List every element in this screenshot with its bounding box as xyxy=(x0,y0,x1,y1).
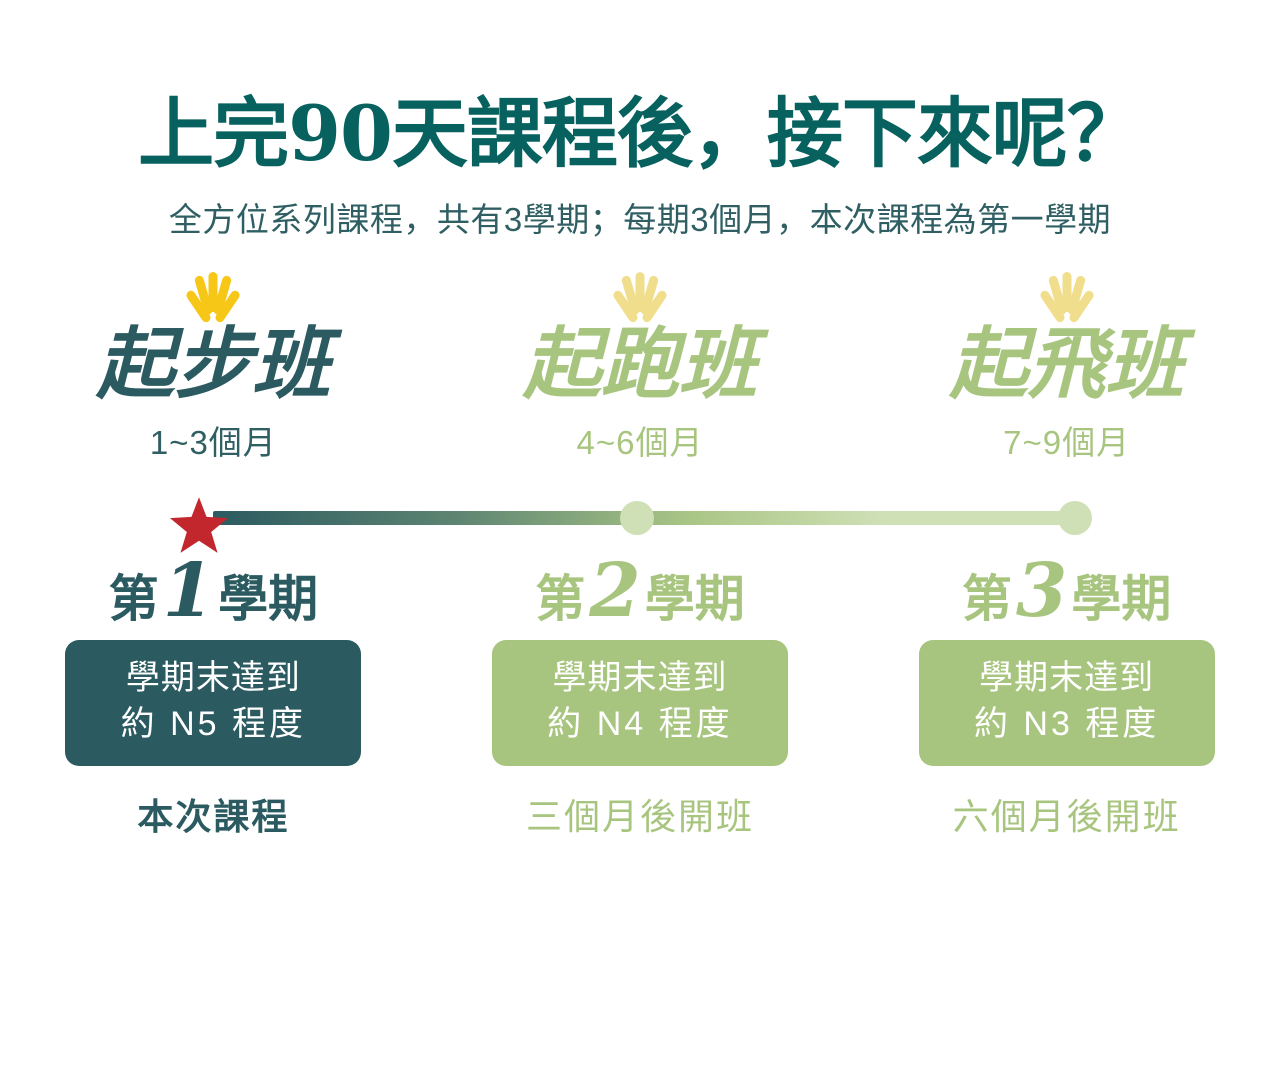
semester-label-1: 第 1 學期 xyxy=(109,558,319,626)
class-column-1: 起步班 1~3個月 xyxy=(0,276,427,464)
progress-timeline xyxy=(0,480,1280,554)
level-badge-line1-2: 學期末達到 xyxy=(492,656,788,702)
semester-label-3: 第 3 學期 xyxy=(962,558,1172,626)
level-badge-1: 學期末達到 約 N5 程度 xyxy=(65,640,361,766)
class-name-3: 起飛班 xyxy=(950,324,1184,406)
semester-number-2: 2 xyxy=(585,558,645,625)
semester-column-3: 第 3 學期 學期末達到 約 N3 程度 六個月後開班 xyxy=(853,558,1280,840)
class-duration-2: 4~6個月 xyxy=(576,416,703,464)
infographic-page: 上完90天課程後，接下來呢？ 全方位系列課程，共有3學期；每期3個月，本次課程為… xyxy=(0,0,1280,1077)
class-duration-1: 1~3個月 xyxy=(150,416,277,464)
class-columns: 起步班 1~3個月 起跑班 4~6個月 起飛班 7~9個月 xyxy=(0,276,1280,464)
class-column-2: 起跑班 4~6個月 xyxy=(427,276,854,464)
level-badge-3: 學期末達到 約 N3 程度 xyxy=(919,640,1215,766)
level-badge-line1-1: 學期末達到 xyxy=(65,656,361,702)
semester-caption-2: 三個月後開班 xyxy=(526,788,754,840)
level-badge-line2-3: 約 N3 程度 xyxy=(919,702,1215,748)
semester-column-1: 第 1 學期 學期末達到 約 N5 程度 本次課程 xyxy=(0,558,427,840)
semester-caption-3: 六個月後開班 xyxy=(953,788,1181,840)
level-badge-line2-1: 約 N5 程度 xyxy=(65,702,361,748)
semester-number-1: 1 xyxy=(159,558,219,625)
circle-node-icon xyxy=(1058,501,1092,535)
level-badge-2: 學期末達到 約 N4 程度 xyxy=(492,640,788,766)
semester-suffix-3: 學期 xyxy=(1071,571,1171,626)
circle-node-icon xyxy=(620,501,654,535)
semester-prefix-2: 第 xyxy=(535,571,585,626)
semester-columns: 第 1 學期 學期末達到 約 N5 程度 本次課程 第 2 學期 學期末達到 約… xyxy=(0,558,1280,840)
level-badge-line2-2: 約 N4 程度 xyxy=(492,702,788,748)
sunburst-icon xyxy=(128,276,298,328)
star-icon xyxy=(170,497,228,555)
semester-column-2: 第 2 學期 學期末達到 約 N4 程度 三個月後開班 xyxy=(427,558,854,840)
header: 上完90天課程後，接下來呢？ 全方位系列課程，共有3學期；每期3個月，本次課程為… xyxy=(0,0,1280,238)
page-title: 上完90天課程後，接下來呢？ xyxy=(0,96,1280,172)
semester-number-3: 3 xyxy=(1012,558,1072,625)
level-badge-line1-3: 學期末達到 xyxy=(919,656,1215,702)
class-name-2: 起跑班 xyxy=(523,324,757,406)
page-subtitle: 全方位系列課程，共有3學期；每期3個月，本次課程為第一學期 xyxy=(0,202,1280,238)
semester-label-2: 第 2 學期 xyxy=(535,558,745,626)
semester-suffix-2: 學期 xyxy=(645,571,745,626)
semester-caption-1: 本次課程 xyxy=(137,788,289,840)
class-duration-3: 7~9個月 xyxy=(1003,416,1130,464)
sunburst-icon xyxy=(982,276,1152,328)
semester-suffix-1: 學期 xyxy=(218,571,318,626)
semester-prefix-1: 第 xyxy=(109,571,159,626)
sunburst-icon xyxy=(555,276,725,328)
class-column-3: 起飛班 7~9個月 xyxy=(853,276,1280,464)
semester-prefix-3: 第 xyxy=(962,571,1012,626)
class-name-1: 起步班 xyxy=(96,324,330,406)
